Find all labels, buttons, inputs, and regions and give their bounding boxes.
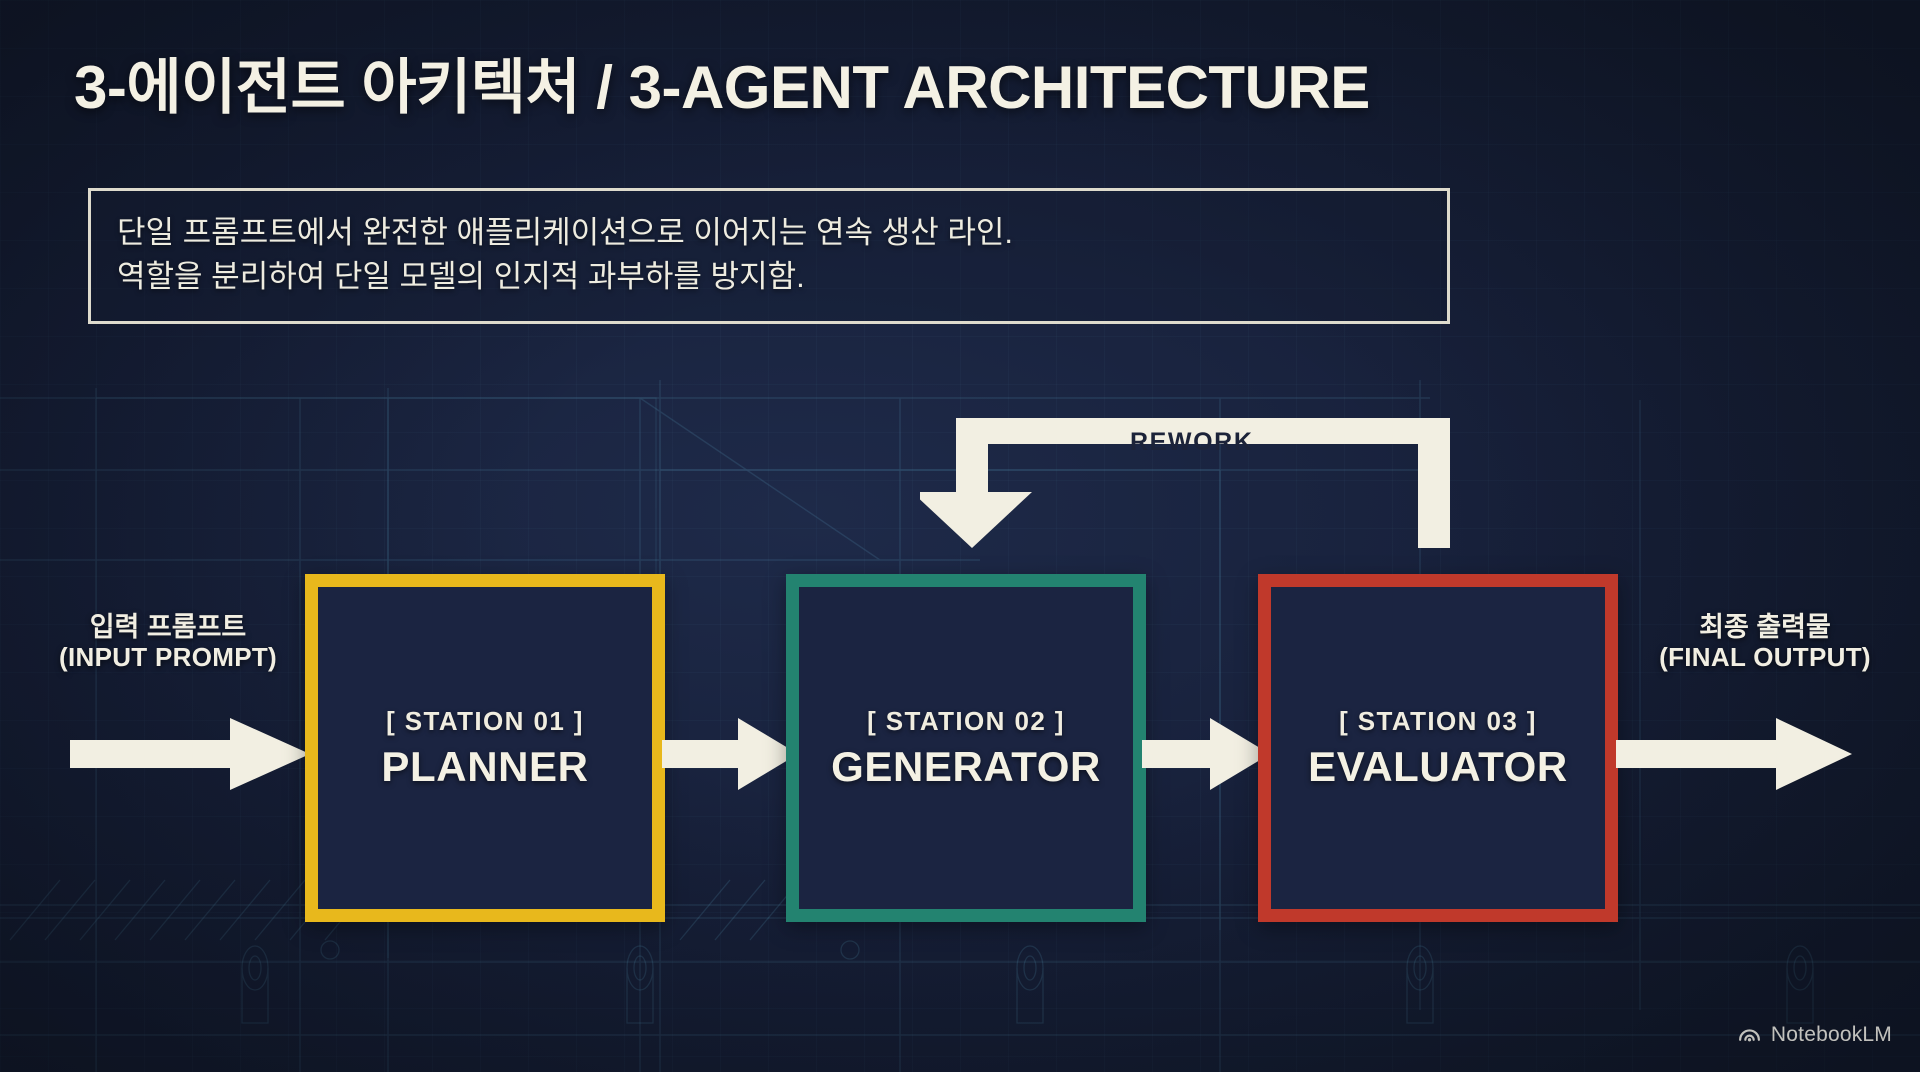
input-prompt-label-ko: 입력 프롬프트 [48, 612, 288, 643]
rework-label: REWORK [1130, 428, 1253, 457]
station-evaluator[interactable]: [ STATION 03 ] EVALUATOR [1258, 574, 1618, 922]
subtitle-box: 단일 프롬프트에서 완전한 애플리케이션으로 이어지는 연속 생산 라인. 역할… [88, 188, 1450, 324]
final-output-label: 최종 출력물 (FINAL OUTPUT) [1640, 612, 1890, 673]
station-planner-tag: [ STATION 01 ] [386, 706, 584, 737]
station-evaluator-name: EVALUATOR [1308, 743, 1568, 791]
final-output-label-en: (FINAL OUTPUT) [1640, 643, 1890, 673]
arrow-generator-to-evaluator [1142, 718, 1270, 790]
input-prompt-label-en: (INPUT PROMPT) [48, 643, 288, 673]
station-generator-tag: [ STATION 02 ] [867, 706, 1065, 737]
slide-canvas: 3-에이전트 아키텍처 / 3-AGENT ARCHITECTURE 단일 프롬… [0, 0, 1920, 1072]
notebooklm-watermark: NotebookLM [1737, 1020, 1892, 1050]
notebooklm-label: NotebookLM [1771, 1023, 1892, 1047]
arrow-input-to-planner [70, 718, 310, 790]
notebooklm-icon [1737, 1020, 1762, 1050]
arrow-planner-to-generator [662, 718, 798, 790]
station-generator-name: GENERATOR [831, 743, 1101, 791]
subtitle-line-2: 역할을 분리하여 단일 모델의 인지적 과부하를 방지함. [117, 255, 1421, 299]
final-output-label-ko: 최종 출력물 [1640, 612, 1890, 643]
input-prompt-label: 입력 프롬프트 (INPUT PROMPT) [48, 612, 288, 673]
page-title: 3-에이전트 아키텍처 / 3-AGENT ARCHITECTURE [74, 56, 1370, 119]
subtitle-line-1: 단일 프롬프트에서 완전한 애플리케이션으로 이어지는 연속 생산 라인. [117, 211, 1421, 255]
station-planner-name: PLANNER [381, 743, 588, 791]
station-evaluator-tag: [ STATION 03 ] [1339, 706, 1537, 737]
station-planner[interactable]: [ STATION 01 ] PLANNER [305, 574, 665, 922]
station-generator[interactable]: [ STATION 02 ] GENERATOR [786, 574, 1146, 922]
arrow-evaluator-to-output [1616, 718, 1852, 790]
